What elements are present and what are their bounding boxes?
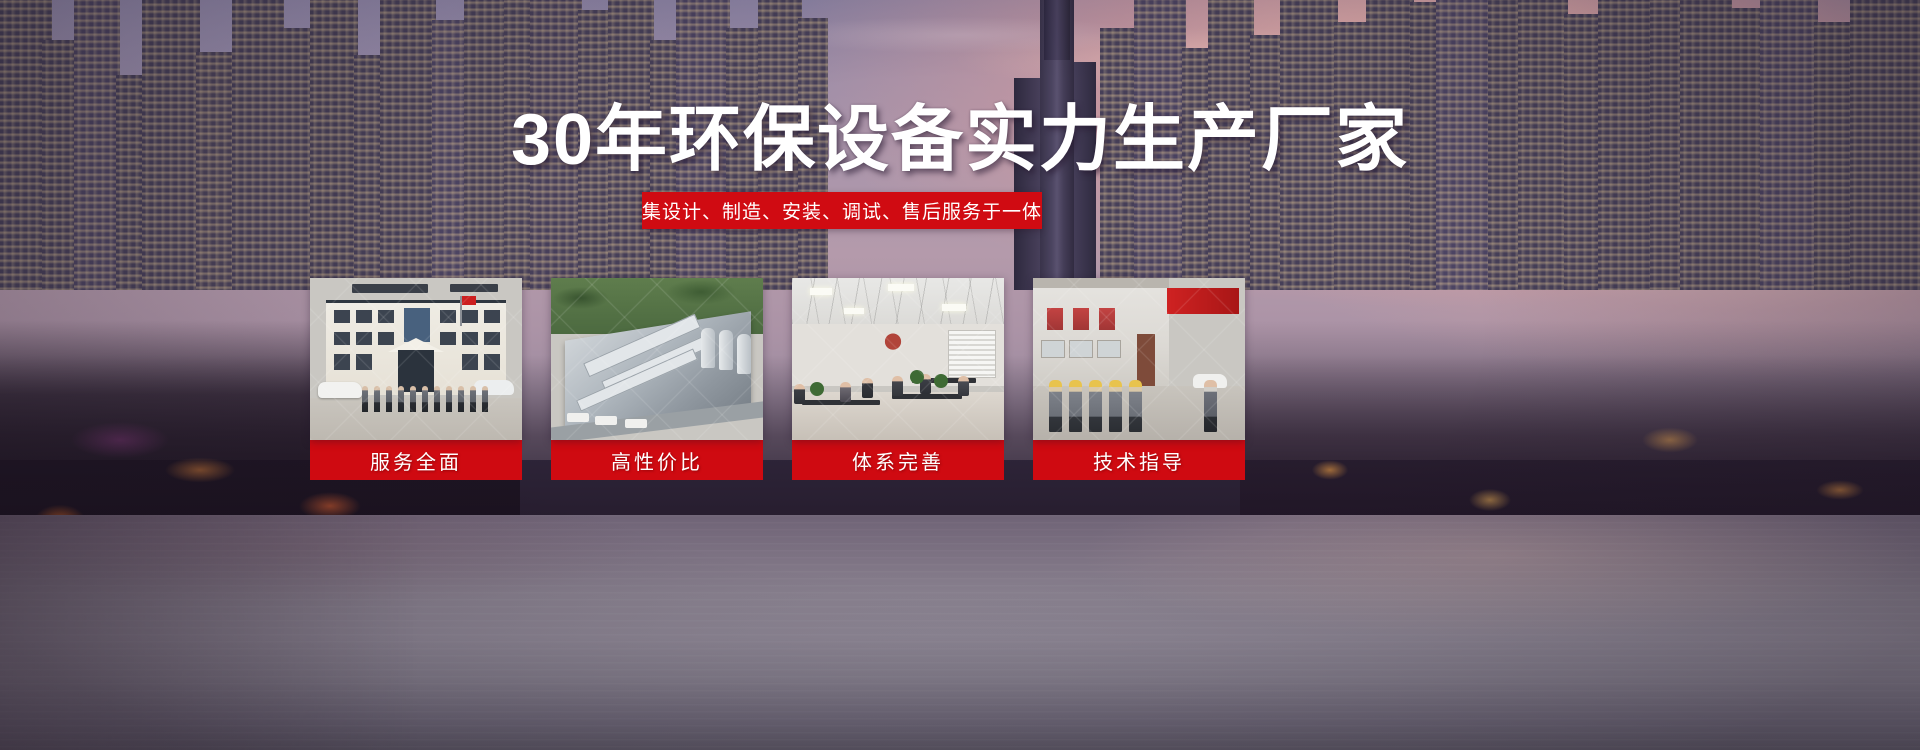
water-reflection [0,515,1920,750]
card-caption: 高性价比 [551,440,763,480]
card-photo-office-interior [792,278,1004,440]
feature-card[interactable]: 体系完善 [792,278,1004,480]
card-caption-text: 体系完善 [852,446,944,475]
banner-subtitle-bar: 集设计、制造、安装、调试、售后服务于一体 [642,192,1042,229]
card-caption-text: 服务全面 [370,446,462,475]
banner-headline: 30年环保设备实力生产厂家 [0,104,1920,176]
card-caption-text: 高性价比 [611,446,703,475]
banner-subtitle-text: 集设计、制造、安装、调试、售后服务于一体 [642,197,1042,224]
feature-card[interactable]: 服务全面 [310,278,522,480]
feature-card-list: 服务全面 高性价比 [310,278,1245,480]
card-photo-office-building [310,278,522,440]
card-photo-factory-yard [1033,278,1245,440]
card-photo-aerial-plant [551,278,763,440]
card-caption: 技术指导 [1033,440,1245,480]
feature-card[interactable]: 高性价比 [551,278,763,480]
feature-card[interactable]: 技术指导 [1033,278,1245,480]
card-caption-text: 技术指导 [1093,446,1185,475]
hero-banner: 30年环保设备实力生产厂家 集设计、制造、安装、调试、售后服务于一体 [0,0,1920,750]
card-caption: 服务全面 [310,440,522,480]
card-caption: 体系完善 [792,440,1004,480]
